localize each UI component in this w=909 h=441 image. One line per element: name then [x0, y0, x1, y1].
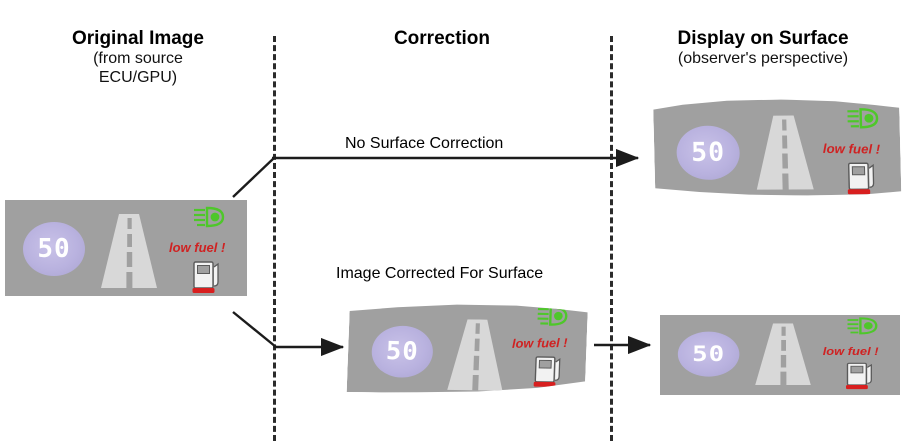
- cluster-content: 50 low fuel !: [653, 99, 901, 196]
- low-fuel-warning-text: low fuel !: [823, 141, 880, 157]
- headlight-icon: [846, 107, 881, 129]
- column-subtitle-original-line1: (from source: [16, 50, 260, 69]
- column-title-original: Original Image: [16, 28, 260, 50]
- cluster-content: 50 low fuel !: [5, 200, 247, 296]
- speed-value: 50: [385, 339, 419, 364]
- column-title-display: Display on Surface: [622, 28, 904, 50]
- fuel-pump-icon: [845, 360, 879, 390]
- column-subtitle-original-line2: ECU/GPU): [16, 69, 260, 88]
- column-heading-correction: Correction: [286, 28, 598, 50]
- display-uncorrected-image: 50 low fuel !: [653, 100, 899, 196]
- fuel-pump-icon: [846, 159, 881, 195]
- perspective-road-icon: [747, 115, 822, 193]
- column-divider-left: [273, 36, 276, 441]
- perspective-road-icon: [747, 323, 818, 388]
- speed-limit-badge: 50: [676, 126, 740, 180]
- cluster-content: 50 low fuel !: [347, 300, 589, 396]
- corrected-source-image: 50 low fuel !: [350, 300, 588, 392]
- low-fuel-warning-text: low fuel !: [823, 345, 879, 357]
- column-subtitle-display-line1: (observer's perspective): [622, 50, 904, 69]
- flow-label-image-corrected-for-surface: Image Corrected For Surface: [336, 265, 543, 283]
- connector-diagonal-top: [233, 158, 274, 197]
- perspective-road-icon: [439, 319, 513, 395]
- speed-limit-badge: 50: [678, 332, 740, 377]
- column-heading-original: Original Image (from source ECU/GPU): [16, 28, 260, 88]
- column-divider-right: [610, 36, 613, 441]
- flow-label-no-surface-correction: No Surface Correction: [345, 135, 503, 153]
- headlight-icon: [536, 305, 570, 327]
- speed-value: 50: [692, 343, 725, 365]
- low-fuel-warning-text: low fuel !: [512, 335, 568, 350]
- display-corrected-image: 50 low fuel !: [660, 315, 900, 395]
- headlight-icon: [193, 206, 227, 228]
- perspective-road-icon: [93, 214, 165, 292]
- warped-surface-corrected: 50 low fuel !: [347, 300, 588, 396]
- column-title-correction: Correction: [286, 28, 598, 50]
- low-fuel-warning-text: low fuel !: [169, 240, 225, 255]
- fuel-pump-icon: [191, 258, 225, 294]
- speed-limit-badge: 50: [371, 325, 434, 378]
- original-cluster-image: 50 low fuel !: [5, 200, 247, 296]
- cluster-content: 50 low fuel !: [660, 315, 900, 395]
- headlight-icon: [846, 317, 880, 335]
- connector-diagonal-bottom: [233, 312, 276, 347]
- column-heading-display: Display on Surface (observer's perspecti…: [622, 28, 904, 69]
- fuel-pump-icon: [532, 353, 567, 388]
- speed-limit-badge: 50: [23, 222, 85, 276]
- speed-value: 50: [691, 140, 725, 166]
- speed-value: 50: [37, 236, 70, 262]
- warped-surface-uncorrected: 50 low fuel !: [653, 99, 901, 196]
